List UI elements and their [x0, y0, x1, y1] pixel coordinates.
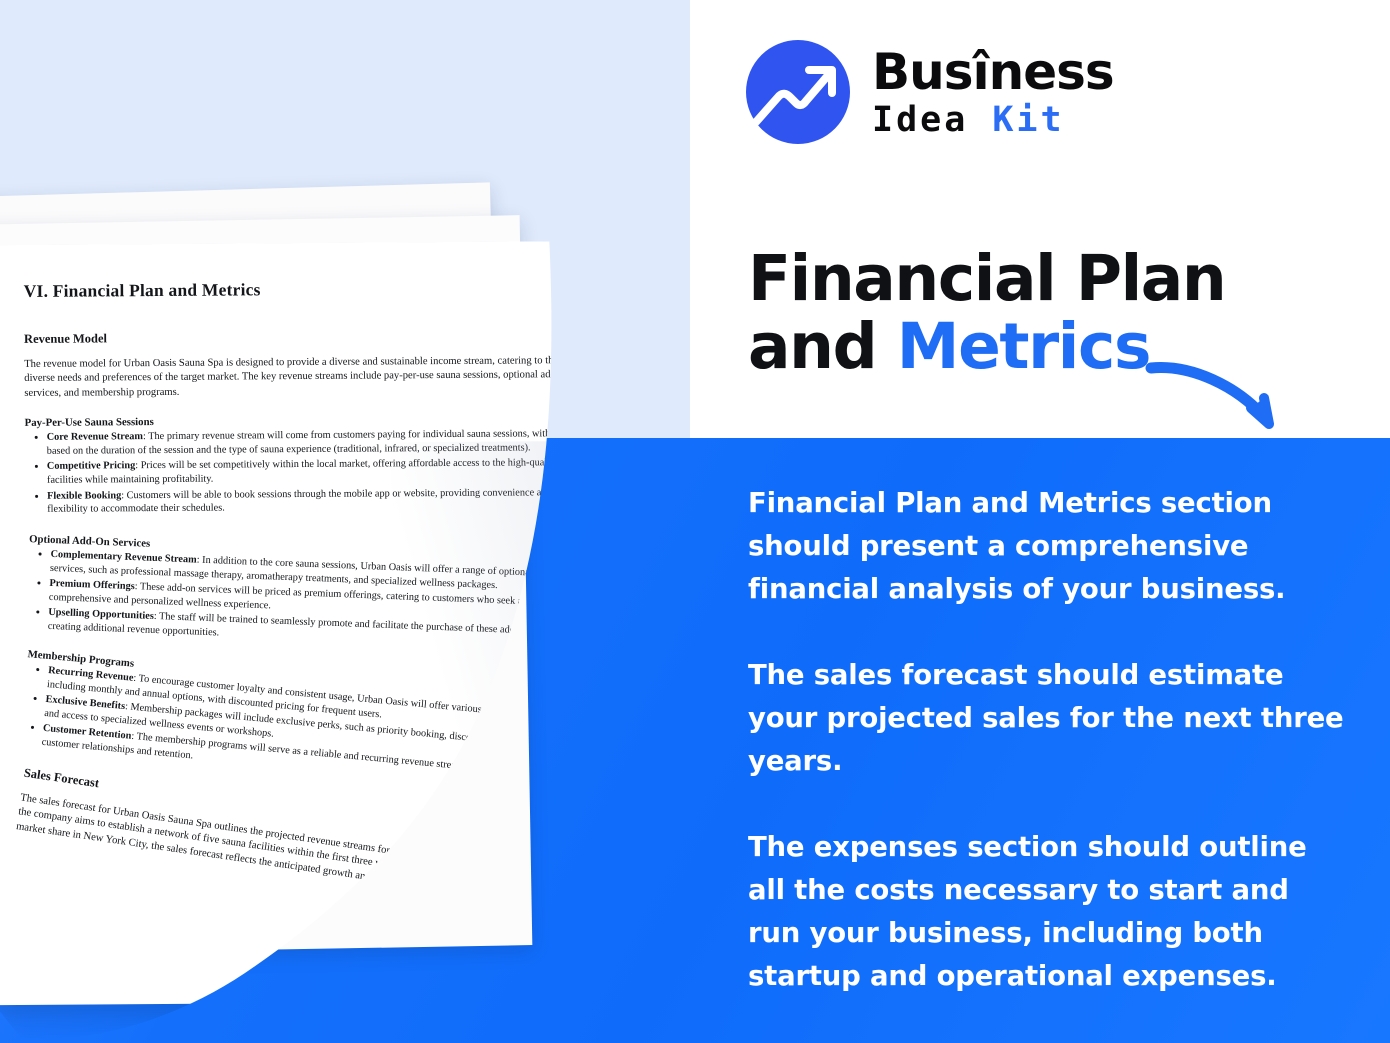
list-item: Competitive Pricing: Prices will be set …: [47, 456, 585, 487]
list-item: Flexible Booking: Customers will be able…: [47, 486, 585, 517]
panel-description: Financial Plan and Metrics section shoul…: [748, 482, 1348, 998]
trend-up-circle-icon: [746, 40, 850, 144]
document-stack: VI Re Theincostre Pay Op M VI Re Theinco…: [0, 150, 780, 1043]
brand-name-idea: Idea: [872, 100, 992, 140]
brand-logo: Busîness Idea Kit: [746, 40, 1114, 144]
document-subheading-pay-per-use: Pay-Per-Use Sauna Sessions: [25, 413, 585, 429]
brand-name-idea-kit: Idea Kit: [872, 103, 1114, 138]
document-group-add-on-services: Optional Add-On Services Complementary R…: [26, 533, 589, 654]
panel-paragraph-3: The expenses section should outline all …: [748, 826, 1348, 998]
slide-canvas: VI Re Theincostre Pay Op M VI Re Theinco…: [0, 0, 1390, 1043]
bullet-label: Core Revenue Stream: [47, 431, 143, 443]
curved-arrow-down-right-icon: [1145, 352, 1305, 442]
document-section-paragraph-revenue-model: The revenue model for Urban Oasis Sauna …: [24, 354, 584, 401]
document-section-heading-revenue-model: Revenue Model: [24, 328, 584, 347]
brand-name-business: Busîness: [872, 47, 1114, 97]
bullet-text: : Customers will be able to book session…: [47, 487, 551, 515]
brand-name-kit: Kit: [992, 100, 1064, 140]
bullet-label: Premium Offerings: [49, 578, 135, 592]
list-item: Core Revenue Stream: The primary revenue…: [47, 427, 585, 458]
page-title-line-1: Financial Plan: [748, 242, 1225, 315]
panel-paragraph-1: Financial Plan and Metrics section shoul…: [748, 482, 1348, 611]
document-group-pay-per-use: Pay-Per-Use Sauna Sessions Core Revenue …: [25, 413, 586, 516]
document-title: VI. Financial Plan and Metrics: [24, 277, 584, 302]
panel-paragraph-2: The sales forecast should estimate your …: [748, 654, 1348, 783]
page-title-line-2-accent: Metrics: [897, 310, 1150, 383]
brand-wordmark: Busîness Idea Kit: [872, 47, 1114, 138]
bullet-label: Competitive Pricing: [47, 461, 135, 473]
page-title-line-2-plain: and: [748, 310, 897, 383]
bullet-label: Upselling Opportunities: [48, 607, 154, 622]
bullet-label: Flexible Booking: [47, 490, 121, 502]
document-bullet-list-pay-per-use: Core Revenue Stream: The primary revenue…: [25, 427, 586, 516]
